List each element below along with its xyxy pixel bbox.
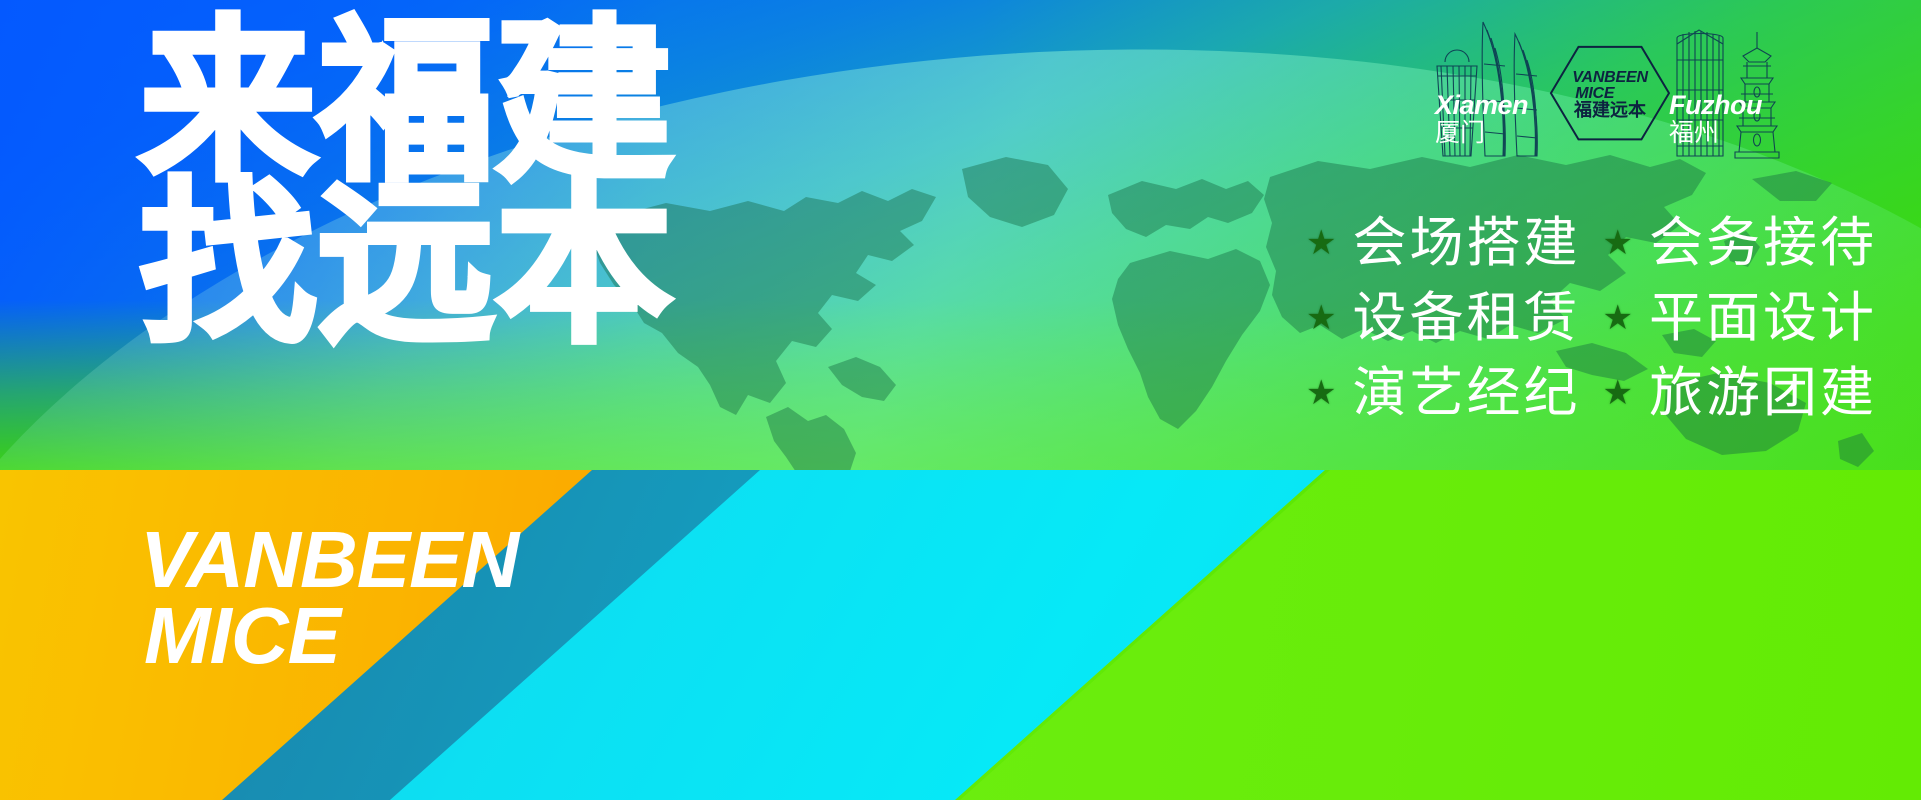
star-icon: ★ [1603,376,1633,410]
footer-brand-line-2: MICE [140,598,518,674]
vanbeen-hexagon-logo: VANBEEN MICE 福建远本 [1547,41,1673,147]
city-block-fuzhou: Fuzhou 福州 [1669,4,1791,169]
city-name-cn-xiamen: 厦门 [1435,120,1551,146]
footer-bar: VANBEEN MICE [0,470,1921,800]
headline-line-2: 找远本 [140,184,780,346]
service-label: 设备租赁 [1353,283,1581,352]
star-icon: ★ [1306,301,1336,335]
city-landmark-strip: Xiamen 厦门 VANBEEN MICE 福建远本 [1431,4,1791,169]
city-name-en-xiamen: Xiamen [1435,92,1551,120]
footer-brand: VANBEEN MICE [140,522,518,674]
service-item: ★ 平面设计 [1603,283,1877,352]
star-icon: ★ [1603,226,1633,260]
service-label: 平面设计 [1649,283,1877,352]
footer-brand-line-1: VANBEEN [140,522,518,598]
hexagon-logo-text: VANBEEN MICE 福建远本 [1572,68,1648,121]
city-block-xiamen: Xiamen 厦门 [1431,4,1551,169]
service-label: 旅游团建 [1649,358,1877,427]
star-icon: ★ [1306,376,1336,410]
city-name-en-fuzhou: Fuzhou [1669,92,1791,120]
headline-line-1: 来福建 [140,22,780,184]
service-label: 会务接待 [1649,208,1877,277]
city-label-fuzhou: Fuzhou 福州 [1669,4,1791,145]
city-name-cn-fuzhou: 福州 [1669,120,1791,146]
logo-en-line-1: VANBEEN [1572,70,1648,86]
star-icon: ★ [1306,226,1336,260]
logo-cn: 福建远本 [1572,102,1648,120]
service-item: ★ 会场搭建 [1306,208,1580,277]
headline: 来福建 找远本 [140,22,780,346]
star-icon: ★ [1603,301,1633,335]
service-label: 会场搭建 [1353,208,1581,277]
promo-banner: 来福建 找远本 [0,0,1921,800]
service-item: ★ 旅游团建 [1603,358,1877,427]
city-label-xiamen: Xiamen 厦门 [1431,4,1551,145]
service-item: ★ 演艺经纪 [1306,358,1580,427]
service-item: ★ 设备租赁 [1306,283,1580,352]
service-label: 演艺经纪 [1353,358,1581,427]
service-item: ★ 会务接待 [1603,208,1877,277]
service-list: ★ 会场搭建 ★ 会务接待 ★ 设备租赁 ★ 平面设计 ★ 演艺经纪 ★ 旅游团… [1306,208,1877,427]
